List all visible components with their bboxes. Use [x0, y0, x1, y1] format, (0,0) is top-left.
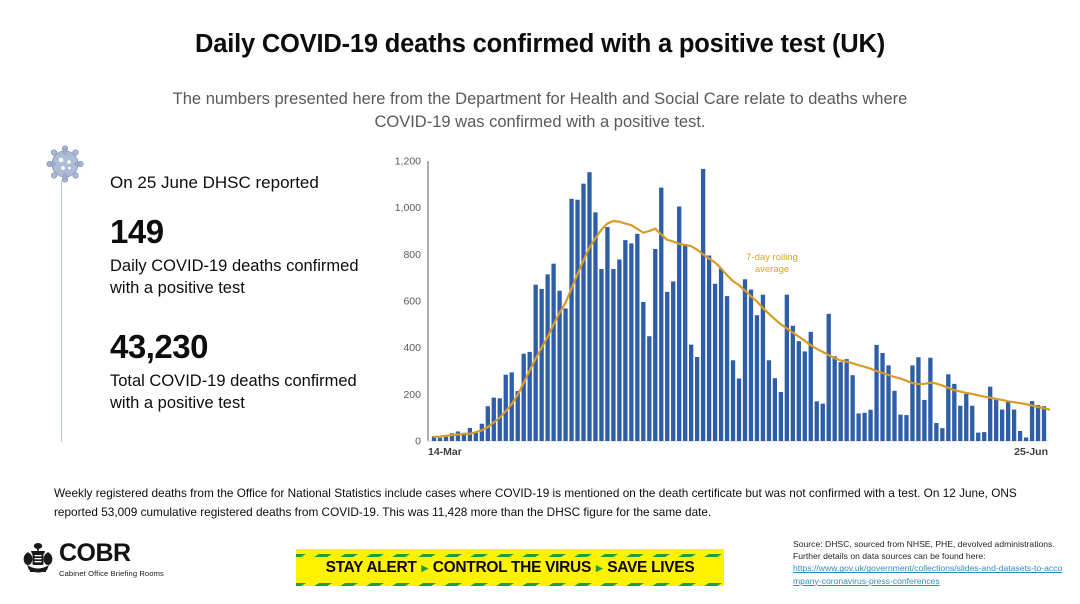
chart-bar [701, 169, 705, 441]
royal-crest-icon [22, 541, 54, 575]
banner-part-3: SAVE LIVES [607, 559, 694, 577]
daily-deaths-value: 149 [110, 214, 385, 251]
chart-bar [779, 392, 783, 441]
stay-alert-banner: STAY ALERT ▸ CONTROL THE VIRUS ▸ SAVE LI… [296, 549, 724, 586]
chart-bar [791, 326, 795, 441]
chart-bar [797, 341, 801, 441]
chart-bar [683, 244, 687, 441]
rolling-average-annotation-line1: 7-day rolling [746, 252, 798, 263]
daily-deaths-description: Daily COVID-19 deaths confirmed with a p… [110, 256, 385, 300]
chart-bar [850, 375, 854, 441]
chart-bar [821, 404, 825, 441]
chart-bar [539, 289, 543, 441]
stats-divider-rule [61, 180, 62, 442]
chart-bar [886, 365, 890, 441]
chart-bar [719, 269, 723, 441]
chart-bar [940, 428, 944, 441]
chart-bar [833, 356, 837, 441]
chart-bar [976, 433, 980, 441]
chart-bar [1024, 438, 1028, 442]
chart-bar [707, 256, 711, 442]
chart-bar [845, 359, 849, 441]
chart-bar [599, 269, 603, 441]
stats-panel: On 25 June DHSC reported 149 Daily COVID… [110, 172, 385, 415]
stats-lead-text: On 25 June DHSC reported [110, 172, 385, 194]
chart-bar [563, 308, 567, 441]
chart-bar [1042, 406, 1046, 441]
chart-bar [928, 358, 932, 441]
chart-bar [575, 200, 579, 441]
stay-alert-text: STAY ALERT ▸ CONTROL THE VIRUS ▸ SAVE LI… [296, 549, 724, 586]
chart-bar [593, 212, 597, 441]
chart-bar [474, 433, 478, 441]
chart-bar [1018, 431, 1022, 441]
chart-bar [982, 432, 986, 441]
chart-bar [809, 332, 813, 441]
banner-separator-1-icon: ▸ [422, 560, 428, 576]
chart-bar [551, 264, 555, 441]
daily-deaths-chart: 02004006008001,0001,200 7-day rolling av… [382, 150, 1050, 460]
chart-bar [486, 406, 490, 441]
chart-bar [898, 415, 902, 441]
chart-bar [635, 234, 639, 441]
chart-bar [1030, 401, 1034, 441]
chart-bar [946, 374, 950, 441]
chart-bar [689, 345, 693, 441]
chart-bar [773, 378, 777, 441]
chart-bar [713, 284, 717, 441]
banner-separator-2-icon: ▸ [596, 560, 602, 576]
chart-bar [839, 362, 843, 441]
chart-bar [952, 384, 956, 441]
chart-bar [659, 188, 663, 441]
cobr-logo: COBR Cabinet Office Briefing Rooms [22, 541, 164, 578]
chart-bar [611, 269, 615, 441]
chart-bar [803, 351, 807, 441]
chart-bar [904, 415, 908, 441]
chart-bar [1036, 405, 1040, 441]
banner-part-1: STAY ALERT [326, 559, 417, 577]
total-deaths-description: Total COVID-19 deaths confirmed with a p… [110, 371, 385, 415]
footnote-text: Weekly registered deaths from the Office… [54, 484, 1034, 522]
chart-bar [677, 207, 681, 442]
chart-bar [569, 199, 573, 441]
chart-bar [545, 274, 549, 441]
chart-bar [922, 400, 926, 441]
chart-svg: 02004006008001,0001,200 7-day rolling av… [382, 150, 1050, 460]
chart-bar [671, 281, 675, 441]
chart-bar [605, 227, 609, 441]
y-axis-tick-label: 600 [403, 296, 421, 308]
x-axis-start-label: 14-Mar [428, 446, 462, 458]
chart-bar [874, 345, 878, 441]
chart-bar [629, 243, 633, 441]
chart-bar [815, 401, 819, 441]
chart-bar [868, 410, 872, 441]
source-text: Source: DHSC, sourced from NHSE, PHE, de… [793, 539, 1055, 561]
y-axis-tick-label: 800 [403, 249, 421, 261]
chart-bar [456, 431, 460, 441]
banner-part-2: CONTROL THE VIRUS [433, 559, 591, 577]
rolling-average-annotation-line2: average [755, 264, 789, 275]
chart-bar [641, 302, 645, 441]
virus-icon [44, 143, 86, 190]
source-block: Source: DHSC, sourced from NHSE, PHE, de… [793, 538, 1068, 587]
chart-bar [892, 391, 896, 441]
chart-bar [862, 413, 866, 441]
cobr-subtitle: Cabinet Office Briefing Rooms [59, 569, 164, 578]
chart-bar [587, 172, 591, 441]
chart-bar [970, 406, 974, 441]
cobr-title: COBR [59, 541, 164, 566]
chart-bar [988, 387, 992, 441]
chart-bar [731, 360, 735, 441]
chart-bar [1006, 401, 1010, 441]
chart-bar [958, 406, 962, 441]
chart-bar [695, 357, 699, 441]
y-axis-tick-label: 0 [415, 436, 421, 448]
chart-bar [749, 290, 753, 441]
y-axis-tick-label: 1,200 [395, 156, 421, 168]
chart-bar [856, 413, 860, 441]
chart-bar [880, 353, 884, 441]
chart-bar [934, 423, 938, 441]
y-axis-tick-label: 200 [403, 389, 421, 401]
total-deaths-value: 43,230 [110, 329, 385, 366]
chart-bar [994, 398, 998, 441]
chart-bar [755, 315, 759, 441]
chart-bar [785, 295, 789, 441]
bar-series [432, 169, 1046, 441]
page-subtitle: The numbers presented here from the Depa… [150, 88, 930, 135]
chart-bar [492, 398, 496, 441]
source-link[interactable]: https://www.gov.uk/government/collection… [793, 562, 1068, 586]
page-title: Daily COVID-19 deaths confirmed with a p… [0, 30, 1080, 59]
chart-bar [743, 279, 747, 441]
chart-bar [916, 357, 920, 441]
chart-bar [665, 292, 669, 441]
chart-bar [1000, 410, 1004, 442]
chart-bar [623, 240, 627, 441]
chart-bar [647, 336, 651, 441]
chart-bar [725, 296, 729, 441]
rolling-average-line [434, 221, 1050, 437]
y-axis: 02004006008001,0001,200 [395, 156, 421, 448]
chart-bar [761, 295, 765, 441]
chart-bar [737, 378, 741, 441]
chart-bar [964, 394, 968, 441]
chart-bar [653, 249, 657, 441]
chart-bar [522, 354, 526, 441]
chart-bar [438, 438, 442, 441]
x-axis-end-label: 25-Jun [1014, 446, 1048, 458]
chart-bar [827, 314, 831, 441]
chart-bar [617, 259, 621, 441]
chart-bar [910, 365, 914, 441]
chart-bar [767, 360, 771, 441]
chart-bar [480, 424, 484, 441]
y-axis-tick-label: 1,000 [395, 202, 421, 214]
chart-bar [1012, 410, 1016, 442]
chart-bar [581, 184, 585, 441]
y-axis-tick-label: 400 [403, 342, 421, 354]
